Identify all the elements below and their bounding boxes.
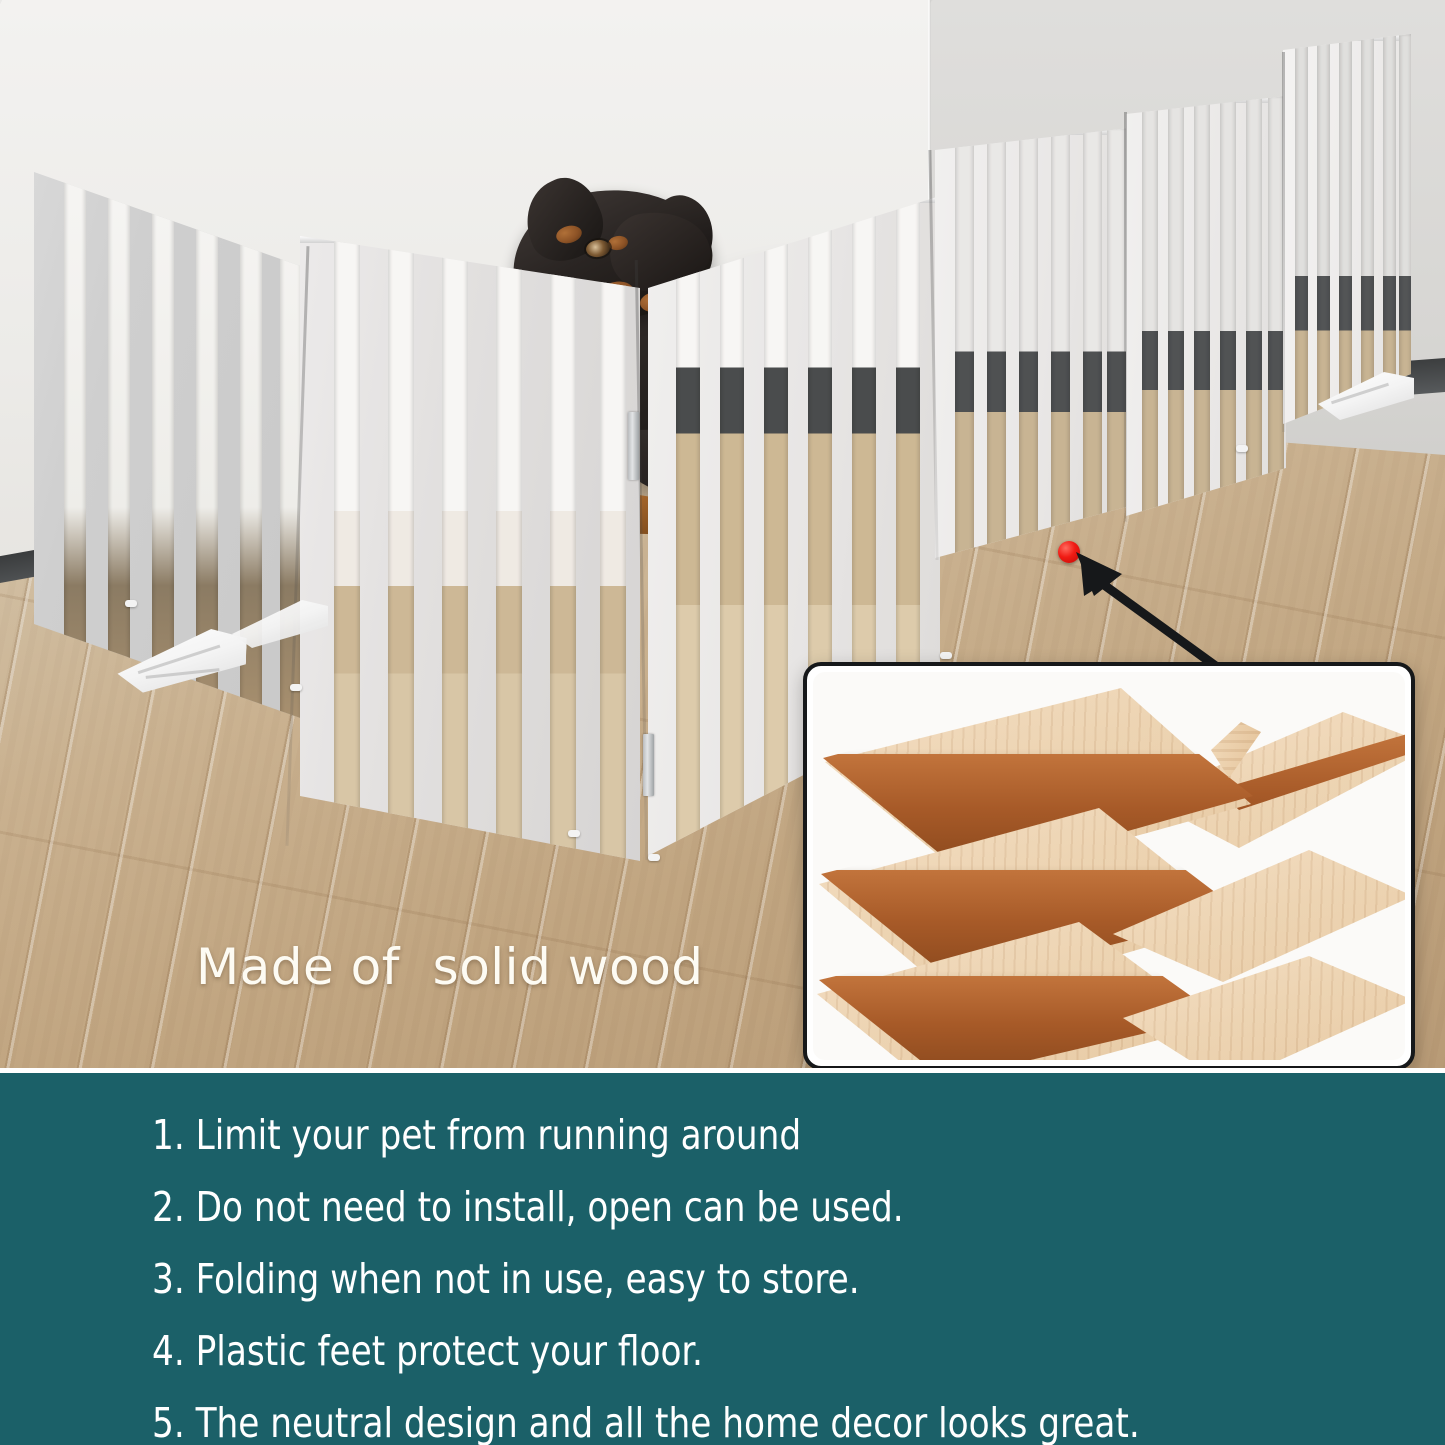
wood-board — [1123, 956, 1405, 1060]
gate-slat-gap — [1361, 34, 1374, 424]
wood-sample-inset — [803, 662, 1415, 1068]
gate-slat-gap — [676, 196, 700, 856]
gate-slat-gap — [1051, 128, 1070, 558]
gate-slat-gap — [152, 160, 174, 720]
material-callout-dot — [1058, 541, 1080, 563]
gate-slat-gap — [334, 236, 360, 861]
gate-hinge-lower — [643, 734, 654, 796]
product-image-root: Made of solid wood 1. Limit your pet fro… — [0, 0, 1445, 1445]
gate-slat-gap — [1019, 128, 1038, 558]
panel-top-edge — [648, 196, 940, 203]
gate-panel-6 — [1283, 34, 1411, 424]
solid-wood-caption: Made of solid wood — [196, 938, 704, 996]
panel-top-edge — [300, 236, 640, 243]
gate-slat-gap — [1339, 34, 1352, 424]
floor-pad — [940, 652, 952, 659]
gate-slat-gap — [720, 196, 744, 856]
feature-item-3: 3. Folding when not in use, easy to stor… — [152, 1259, 1317, 1300]
floor-pad — [568, 830, 580, 837]
gate-slat-gap — [1083, 128, 1102, 558]
gate-slat-gap — [1317, 34, 1330, 424]
feature-item-4: 4. Plastic feet protect your floor. — [152, 1331, 1317, 1372]
gate-slat-gap — [1399, 34, 1412, 424]
gate-slat-gap — [955, 128, 974, 558]
gate-slat-gap — [600, 236, 626, 861]
floor-pad — [1236, 445, 1248, 452]
gate-slat-gap — [64, 160, 86, 720]
floor-pad — [125, 600, 137, 607]
panel-seam — [1124, 112, 1127, 522]
gate-slat-gap — [388, 236, 414, 861]
gate-slat-gap — [496, 236, 522, 861]
board-top-face — [1123, 956, 1405, 1060]
feature-item-5: 5. The neutral design and all the home d… — [152, 1403, 1317, 1444]
features-panel: 1. Limit your pet from running around 2.… — [0, 1068, 1445, 1445]
gate-slat-gap — [1142, 96, 1158, 516]
product-photo: Made of solid wood — [0, 0, 1445, 1068]
feature-item-2: 2. Do not need to install, open can be u… — [152, 1187, 1317, 1228]
gate-slats-4 — [935, 128, 1130, 558]
panel-seam — [1282, 52, 1285, 432]
feature-list: 1. Limit your pet from running around 2.… — [0, 1115, 1445, 1444]
gate-slats-2 — [300, 236, 640, 861]
gate-slat-gap — [764, 196, 788, 856]
gate-slat-gap — [1383, 34, 1396, 424]
gate-slat-gap — [1246, 96, 1262, 516]
gate-slat-gap — [987, 128, 1006, 558]
wood-sample-photo — [813, 672, 1405, 1060]
gate-slat-gap — [442, 236, 468, 861]
feature-item-1: 1. Limit your pet from running around — [152, 1115, 1317, 1156]
gate-slat-gap — [1194, 96, 1210, 516]
gate-slat-gap — [550, 236, 576, 861]
gate-slats-6 — [1283, 34, 1411, 424]
gate-hinge-upper — [628, 412, 639, 480]
gate-slat-gap — [1168, 96, 1184, 516]
floor-pad — [290, 684, 302, 691]
gate-slat-gap — [1220, 96, 1236, 516]
gate-slats-5 — [1126, 96, 1286, 516]
gate-slat-gap — [1295, 34, 1308, 424]
gate-slat-gap — [108, 160, 130, 720]
gate-panel-4 — [935, 128, 1130, 558]
gate-panel-5 — [1126, 96, 1286, 516]
gate-panel-2 — [300, 236, 640, 861]
floor-pad — [648, 854, 660, 861]
panel-top-edge — [34, 160, 306, 167]
